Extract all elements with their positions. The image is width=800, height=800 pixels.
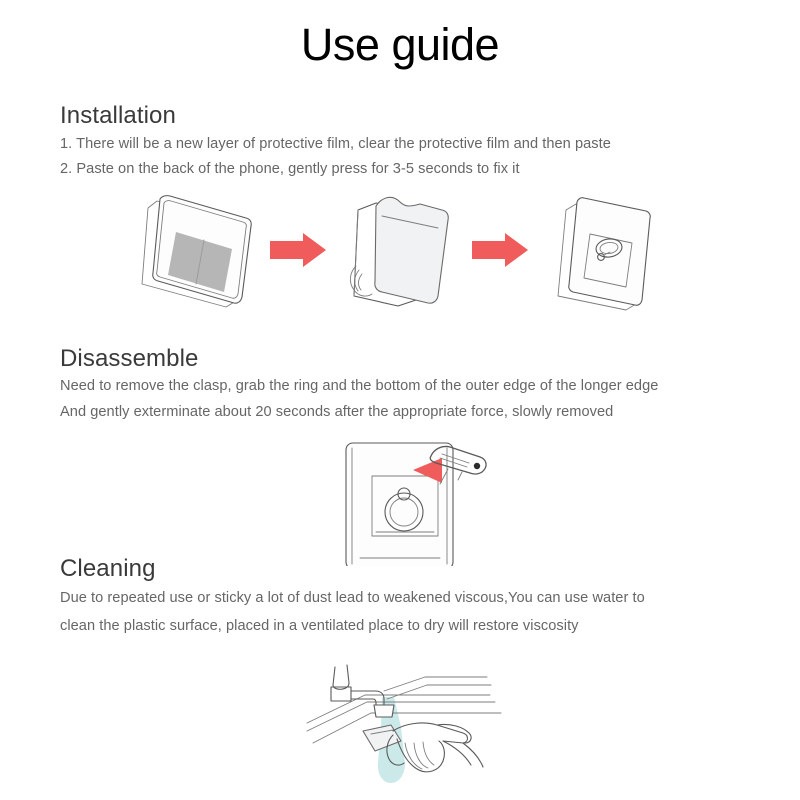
- installation-steps-illustration: [120, 188, 680, 313]
- disassemble-line-1: Need to remove the clasp, grab the ring …: [60, 378, 658, 394]
- cleaning-line-2: clean the plastic surface, placed in a v…: [60, 618, 579, 634]
- section-heading-installation: Installation: [60, 102, 176, 130]
- installation-line-2: 2. Paste on the back of the phone, gentl…: [60, 161, 520, 177]
- phone-with-ring-holder-attached: [558, 198, 650, 310]
- disassemble-line-2: And gently exterminate about 20 seconds …: [60, 404, 613, 420]
- section-heading-cleaning: Cleaning: [60, 555, 156, 583]
- phone-with-adhesive-pad: [142, 196, 251, 307]
- ring-holder-peeling-film: [350, 197, 448, 306]
- faucet-icon: [331, 665, 491, 717]
- arrow-right-icon: [270, 233, 326, 267]
- disassemble-illustration: [330, 436, 515, 566]
- page-title: Use guide: [0, 22, 800, 67]
- section-heading-disassemble: Disassemble: [60, 345, 198, 373]
- arrow-right-icon: [472, 233, 528, 267]
- installation-line-1: 1. There will be a new layer of protecti…: [60, 136, 611, 152]
- cleaning-line-1: Due to repeated use or sticky a lot of d…: [60, 590, 645, 606]
- cleaning-illustration: [305, 655, 520, 790]
- use-guide-page: Use guide Installation 1. There will be …: [0, 0, 800, 800]
- counter-edge: [307, 695, 501, 743]
